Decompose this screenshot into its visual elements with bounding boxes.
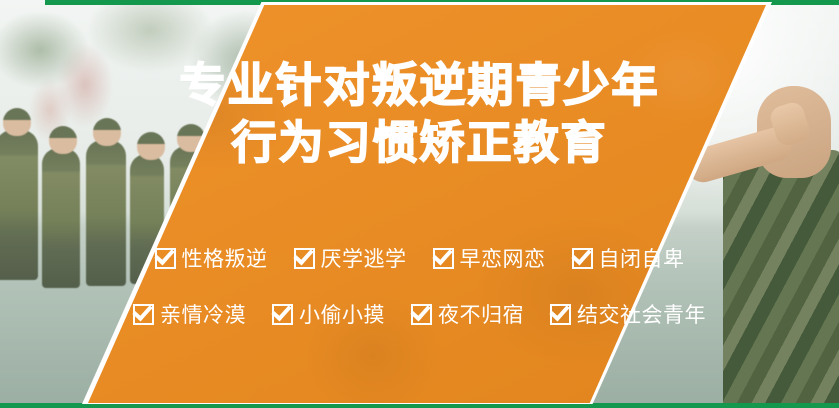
checklist: 性格叛逆 厌学逃学 早恋网恋 自闭自卑 亲情冷漠: [0, 243, 839, 355]
checklist-item[interactable]: 小偷小摸: [272, 299, 385, 329]
checklist-item-label: 结交社会青年: [577, 299, 706, 329]
checklist-item[interactable]: 亲情冷漠: [133, 299, 246, 329]
checklist-item-label: 夜不归宿: [438, 299, 524, 329]
checklist-item[interactable]: 夜不归宿: [411, 299, 524, 329]
banner-content: 专业针对叛逆期青少年 行为习惯矫正教育 性格叛逆 厌学逃学 早恋网恋: [0, 0, 839, 408]
checklist-item-label: 亲情冷漠: [160, 299, 246, 329]
checklist-item[interactable]: 结交社会青年: [550, 299, 706, 329]
checkmark-icon: [294, 248, 315, 269]
checklist-item-label: 自闭自卑: [599, 243, 685, 273]
promo-banner: 专业针对叛逆期青少年 行为习惯矫正教育 性格叛逆 厌学逃学 早恋网恋: [0, 0, 839, 408]
checklist-item[interactable]: 早恋网恋: [433, 243, 546, 273]
checkmark-icon: [272, 304, 293, 325]
checklist-row: 亲情冷漠 小偷小摸 夜不归宿 结交社会青年: [0, 299, 839, 329]
checklist-item[interactable]: 厌学逃学: [294, 243, 407, 273]
checklist-item-label: 小偷小摸: [299, 299, 385, 329]
checkmark-icon: [411, 304, 432, 325]
checklist-item[interactable]: 性格叛逆: [155, 243, 268, 273]
checkmark-icon: [155, 248, 176, 269]
headline-line-1: 专业针对叛逆期青少年: [0, 60, 839, 112]
checkmark-icon: [550, 304, 571, 325]
checklist-item-label: 厌学逃学: [321, 243, 407, 273]
checklist-item-label: 早恋网恋: [460, 243, 546, 273]
headline: 专业针对叛逆期青少年 行为习惯矫正教育: [0, 60, 839, 168]
checkmark-icon: [572, 248, 593, 269]
checklist-item[interactable]: 自闭自卑: [572, 243, 685, 273]
checkmark-icon: [433, 248, 454, 269]
headline-line-2: 行为习惯矫正教育: [0, 118, 839, 168]
checklist-item-label: 性格叛逆: [182, 243, 268, 273]
checklist-row: 性格叛逆 厌学逃学 早恋网恋 自闭自卑: [0, 243, 839, 273]
checkmark-icon: [133, 304, 154, 325]
